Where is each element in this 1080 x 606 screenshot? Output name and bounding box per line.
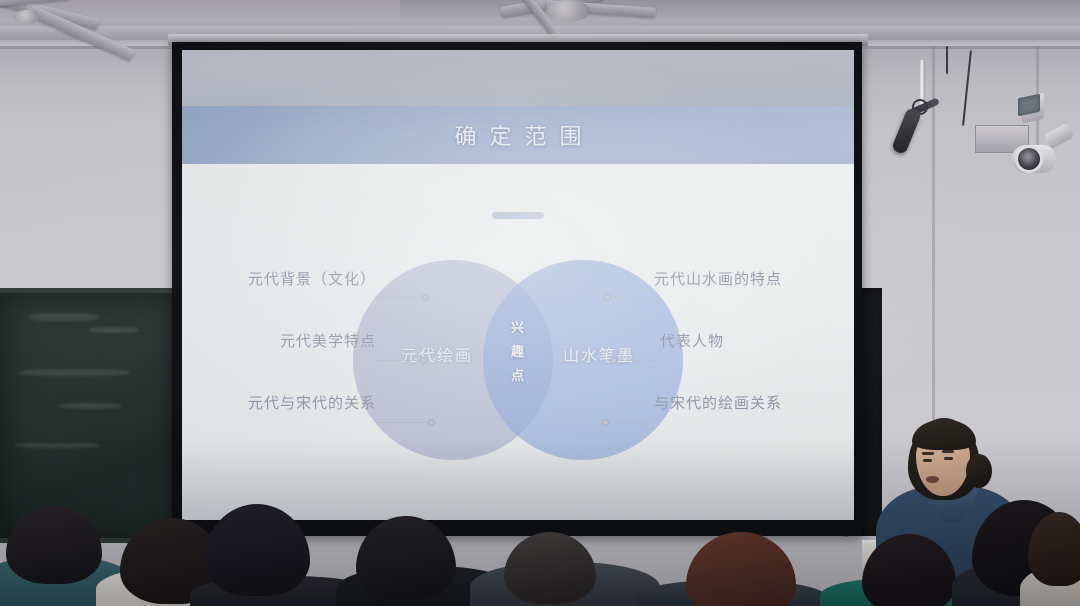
leader-node-left-3 <box>428 419 435 426</box>
venn-intersection-label: 兴 趣 点 <box>486 316 550 388</box>
callout-right-2: 代表人物 <box>660 330 724 351</box>
classroom-scene: 确定范围 元代绘画 山水笔墨 兴 趣 点 <box>0 0 1080 606</box>
callout-left-1: 元代背景（文化） <box>198 268 376 289</box>
intersection-char-3: 点 <box>486 364 550 388</box>
leader-node-right-1 <box>604 294 611 301</box>
callout-left-2: 元代美学特点 <box>188 330 376 351</box>
ceiling-fan-left-icon <box>0 0 170 60</box>
chalkboard-left <box>0 288 190 543</box>
leader-right-3 <box>606 422 650 423</box>
callout-right-3: 与宋代的绘画关系 <box>654 392 782 413</box>
leader-right-2 <box>614 360 658 361</box>
leader-left-3 <box>378 422 430 423</box>
ceiling-cable <box>946 46 948 74</box>
slide-divider-rule <box>492 212 544 219</box>
projection-screen: 确定范围 元代绘画 山水笔墨 兴 趣 点 <box>172 42 862 536</box>
intersection-char-1: 兴 <box>486 316 550 340</box>
camera-lens-icon <box>1018 148 1040 170</box>
leader-right-1 <box>608 297 652 298</box>
presentation-slide: 确定范围 元代绘画 山水笔墨 兴 趣 点 <box>182 50 854 520</box>
leader-left-2 <box>378 360 422 361</box>
intersection-char-2: 趣 <box>486 340 550 364</box>
leader-node-left-1 <box>422 294 429 301</box>
wall-vertical-seam <box>932 46 935 516</box>
slide-top-band <box>182 50 854 106</box>
leader-node-right-3 <box>602 419 609 426</box>
leader-left-1 <box>378 297 424 298</box>
slide-title: 确定范围 <box>182 106 854 164</box>
callout-right-1: 元代山水画的特点 <box>654 268 782 289</box>
slide-body: 元代绘画 山水笔墨 兴 趣 点 元代背景（文化） 元代美学特点 <box>182 164 854 520</box>
leader-node-left-2 <box>420 357 427 364</box>
leader-node-right-2 <box>610 357 617 364</box>
screen-surface: 确定范围 元代绘画 山水笔墨 兴 趣 点 <box>182 50 854 520</box>
callout-left-3: 元代与宋代的关系 <box>182 392 376 413</box>
